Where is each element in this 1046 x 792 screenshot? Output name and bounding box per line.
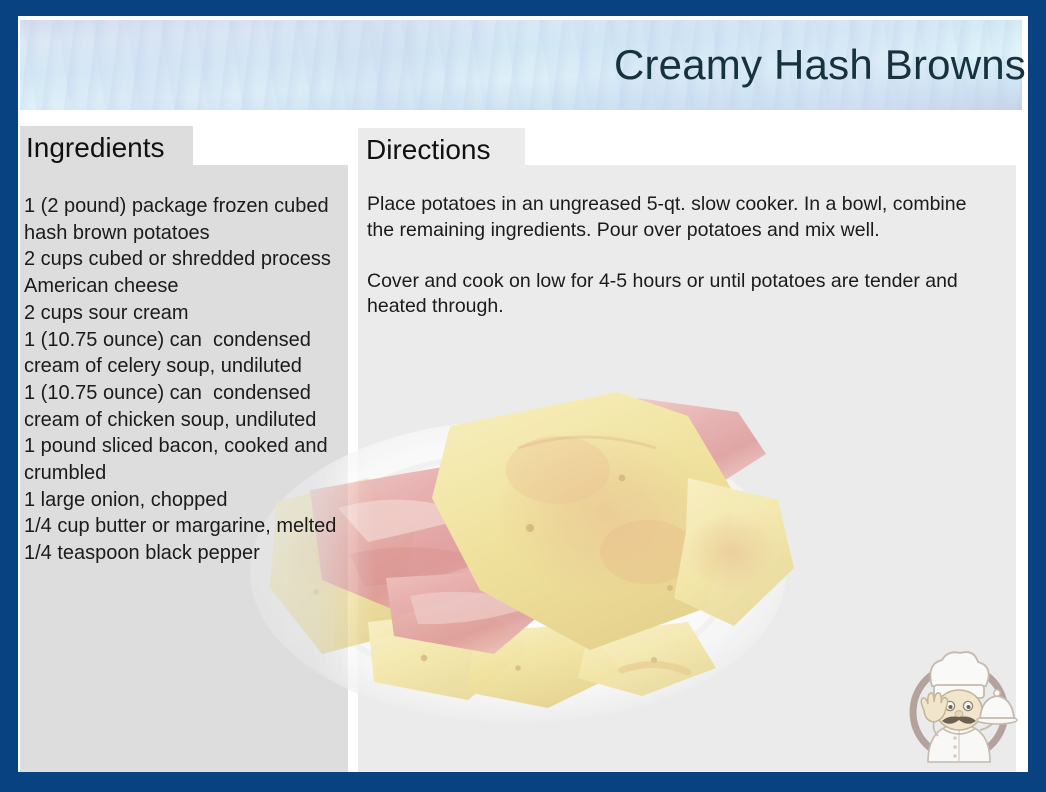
frame-bottom-edge [0, 772, 1046, 792]
frame-top-edge [0, 0, 1046, 16]
directions-steps: Place potatoes in an ungreased 5-qt. slo… [367, 192, 995, 320]
directions-heading: Directions [366, 133, 490, 167]
page-title: Creamy Hash Browns [614, 41, 1026, 89]
frame-right-edge [1028, 0, 1046, 792]
chef-mascot-logo [898, 644, 1020, 766]
frame-left-edge [0, 0, 18, 792]
ingredients-heading: Ingredients [26, 131, 165, 165]
ingredients-list: 1 (2 pound) package frozen cubed hash br… [24, 193, 346, 567]
recipe-slide: Creamy Hash Browns Ingredients 1 (2 poun… [0, 0, 1046, 792]
